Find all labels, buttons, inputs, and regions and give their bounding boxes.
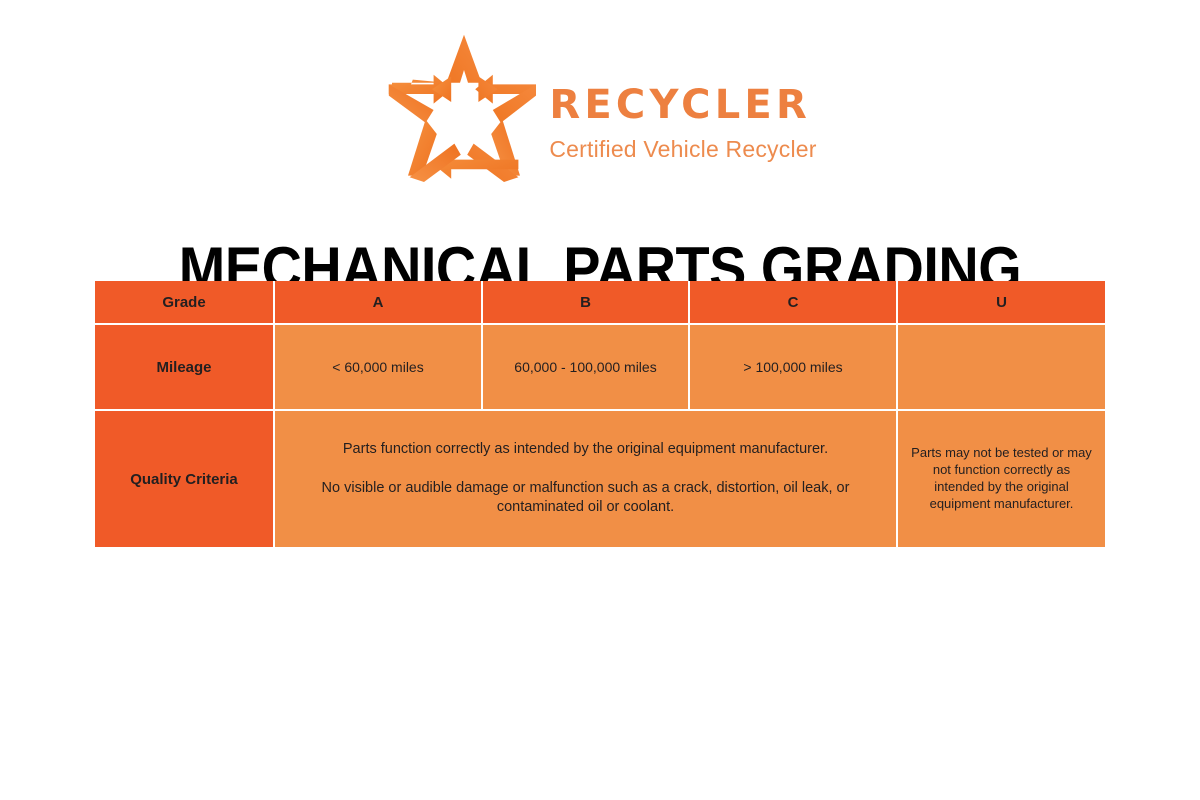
cell-mileage-c: > 100,000 miles <box>690 325 898 411</box>
logo-text-group: RECYCLER Certified Vehicle Recycler <box>549 51 816 161</box>
header-cell-c: C <box>690 281 898 325</box>
logo-tagline: Certified Vehicle Recycler <box>549 138 816 161</box>
cell-mileage-b: 60,000 - 100,000 miles <box>483 325 690 411</box>
table-row-quality-criteria: Quality Criteria Parts function correctl… <box>95 411 1105 547</box>
quality-criteria-paragraph-2: No visible or audible damage or malfunct… <box>297 479 874 518</box>
cell-quality-criteria-abc: Parts function correctly as intended by … <box>275 411 898 547</box>
row-label-mileage: Mileage <box>95 325 275 411</box>
quality-criteria-paragraph-1: Parts function correctly as intended by … <box>297 440 874 460</box>
table-row-mileage: Mileage < 60,000 miles 60,000 - 100,000 … <box>95 325 1105 411</box>
brand-logo: RECYCLER Certified Vehicle Recycler <box>0 26 1200 186</box>
header-cell-a: A <box>275 281 483 325</box>
logo-wordmark: RECYCLER <box>549 85 816 125</box>
table-header-row: Grade A B C U <box>95 281 1105 325</box>
cell-quality-criteria-u: Parts may not be tested or may not funct… <box>898 411 1105 547</box>
header-cell-u: U <box>898 281 1105 325</box>
recycling-star-icon <box>383 30 545 182</box>
logo-inner: RECYCLER Certified Vehicle Recycler <box>383 30 816 182</box>
cell-mileage-a: < 60,000 miles <box>275 325 483 411</box>
header-cell-b: B <box>483 281 690 325</box>
cell-mileage-u <box>898 325 1105 411</box>
mechanical-parts-grading-table: Grade A B C U Mileage < 60,000 miles 60,… <box>95 281 1105 547</box>
row-label-quality-criteria: Quality Criteria <box>95 411 275 547</box>
header-cell-grade: Grade <box>95 281 275 325</box>
